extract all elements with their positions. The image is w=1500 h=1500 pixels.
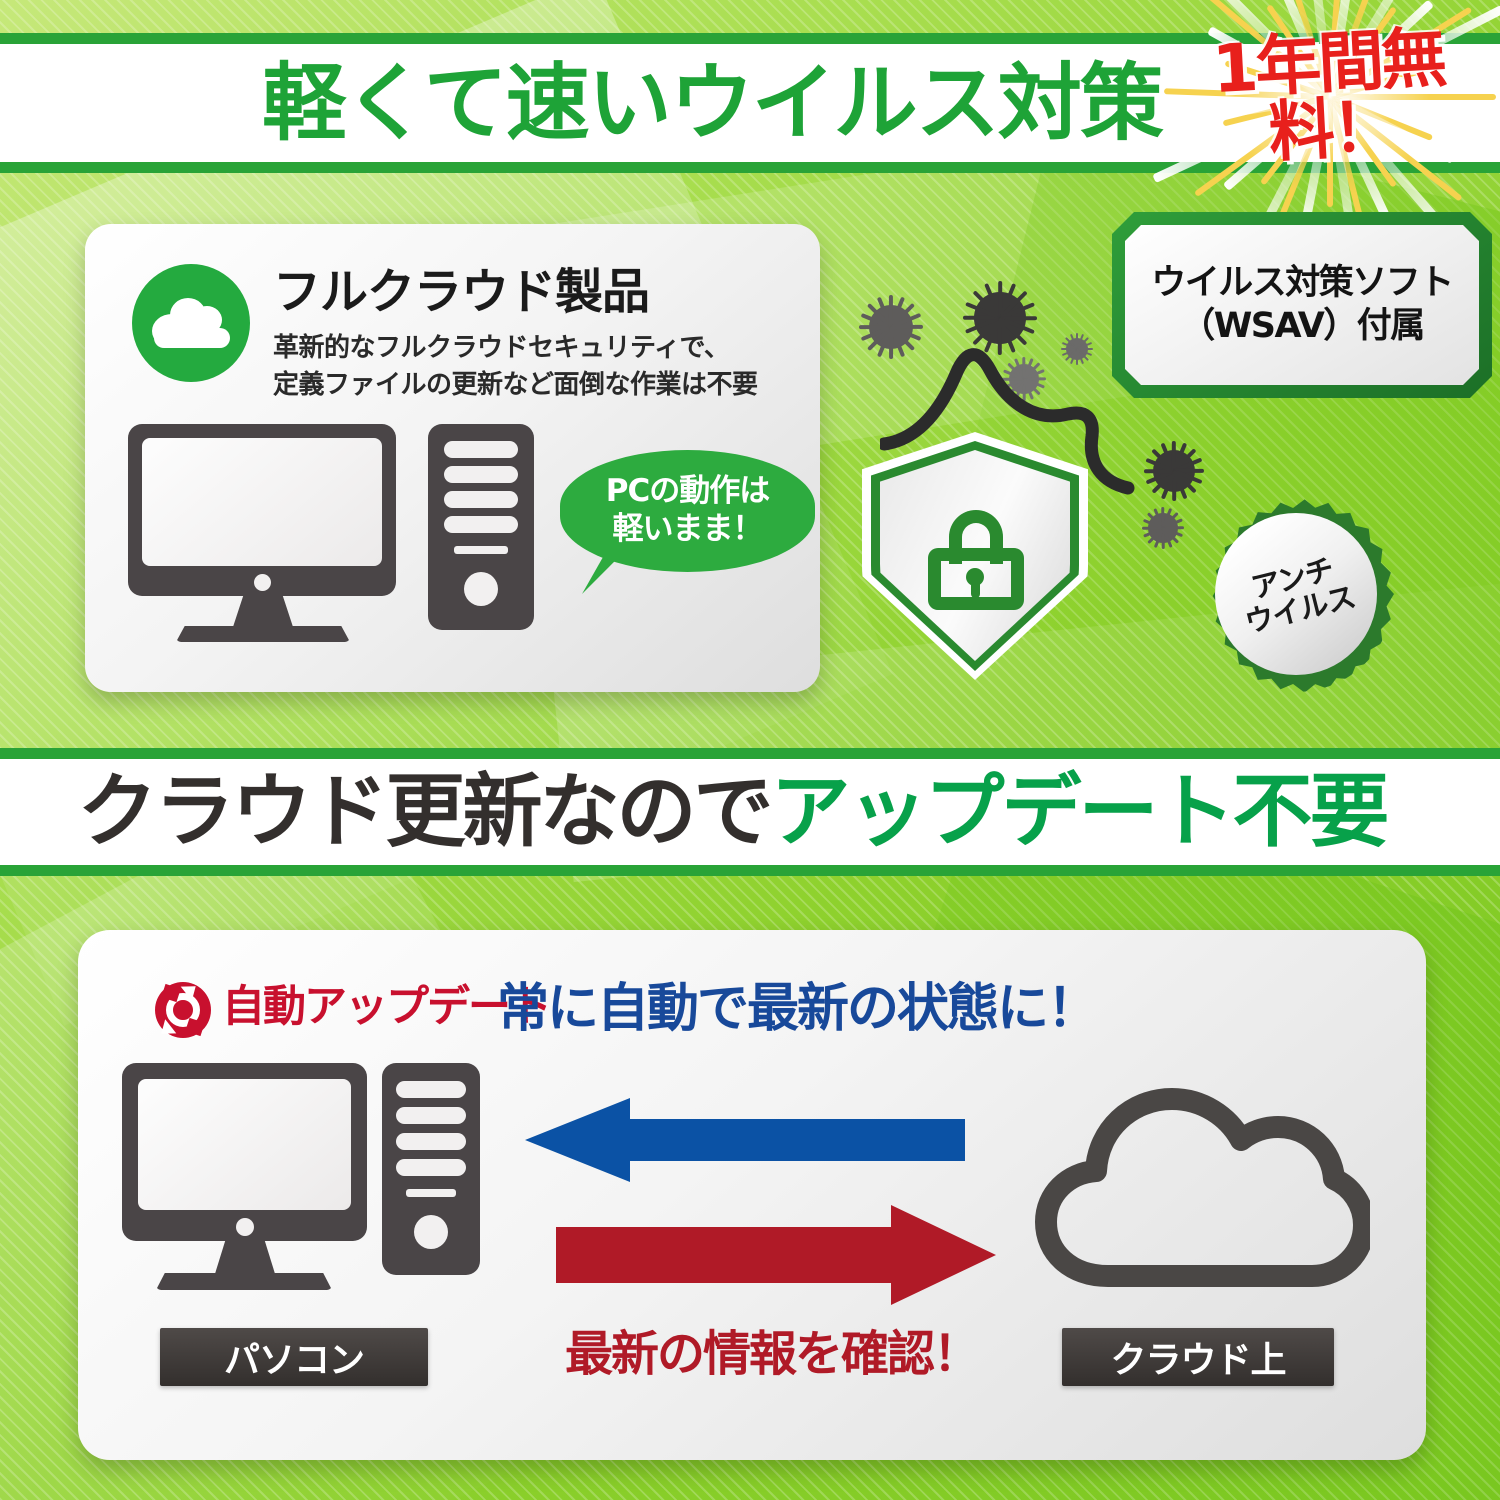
middle-banner: クラウド更新なのでアップデート不要 (0, 748, 1500, 876)
free-for-one-year-badge: 1年間無料！ (1160, 0, 1500, 212)
card-subtitle: 革新的なフルクラウドセキュリティで、 定義ファイルの更新など面倒な作業は不要 (273, 330, 758, 404)
mid-banner-text-green: アップデート不要 (771, 765, 1387, 858)
shield-lock-icon (862, 432, 1088, 680)
antivirus-starburst-badge: アンチ ウイルス (1198, 496, 1394, 692)
desktop-pc-icon (122, 1063, 486, 1303)
advertisement-page: 軽くて速いウイルス対策 1年間無料！ フルクラウド製品 革新的なフルクラウドセキ… (0, 0, 1500, 1500)
padlock-icon (924, 510, 1028, 614)
page-title: 軽くて速いウイルス対策 (262, 61, 1161, 145)
mid-banner-text-dark: クラウド更新なので (78, 765, 771, 858)
free-badge-label: 1年間無料！ (1157, 22, 1500, 172)
check-latest-info-caption: 最新の情報を確認！ (565, 1326, 979, 1384)
card-subtitle-line1: 革新的なフルクラウドセキュリティで、 (273, 330, 758, 367)
cloud-icon (132, 264, 250, 382)
bubble-line1: PCの動作は (606, 473, 769, 511)
pc-speed-speech-bubble: PCの動作は 軽いまま！ (560, 450, 815, 572)
card-title: フルクラウド製品 (273, 268, 649, 316)
card-subtitle-line2: 定義ファイルの更新など面倒な作業は不要 (273, 367, 758, 404)
wsav-included-box: ウイルス対策ソフト （WSAV）付属 (1112, 212, 1492, 398)
tag-pc: パソコン (160, 1328, 428, 1386)
always-latest-headline: 常に自動で最新の状態に！ (497, 978, 1097, 1040)
wsav-line1: ウイルス対策ソフト (1151, 262, 1453, 305)
desktop-pc-icon (128, 424, 548, 656)
cloud-outline-icon (1030, 1070, 1370, 1295)
bubble-line2: 軽いまま！ (613, 511, 763, 549)
auto-update-refresh-icon (155, 982, 211, 1038)
wsav-line2: （WSAV）付属 (1180, 305, 1424, 348)
tag-cloud: クラウド上 (1062, 1328, 1334, 1386)
